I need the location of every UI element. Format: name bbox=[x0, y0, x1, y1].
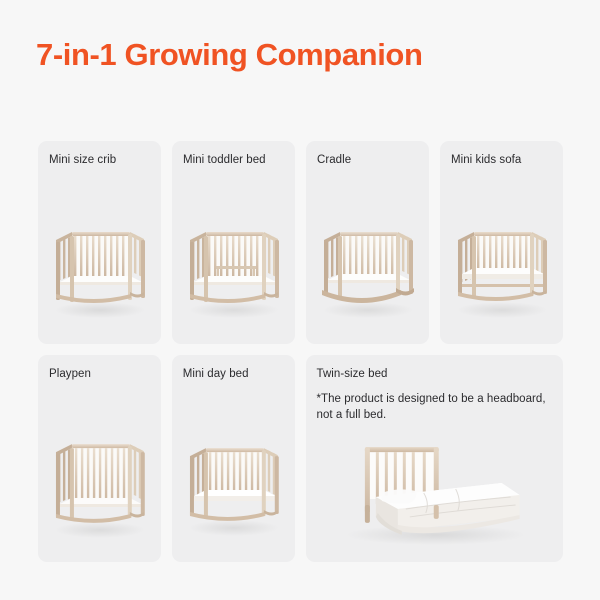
twin-bed-illustration-icon bbox=[306, 413, 563, 558]
day-bed-illustration-icon bbox=[172, 412, 295, 562]
card-image-alt: Cradle with curved rocking base bbox=[306, 141, 307, 142]
cradle-illustration-icon bbox=[306, 194, 429, 344]
card-mini-kids-sofa[interactable]: Mini kids sofa Mini kids sofa converted … bbox=[440, 141, 563, 344]
product-feature-panel: 7-in-1 Growing Companion Mini size crib … bbox=[0, 0, 600, 600]
kids-sofa-illustration-icon bbox=[440, 194, 563, 344]
grid-row-1: Mini size crib Mini size crib with full-… bbox=[38, 141, 563, 344]
playpen-illustration-icon bbox=[38, 412, 161, 562]
card-label: Mini size crib bbox=[49, 153, 116, 168]
crib-illustration-icon bbox=[38, 194, 161, 344]
configuration-grid: Mini size crib Mini size crib with full-… bbox=[38, 141, 563, 562]
card-image-alt: Twin-size bed using the slatted panel as… bbox=[306, 355, 307, 356]
card-label: Mini toddler bed bbox=[183, 153, 266, 168]
card-playpen[interactable]: Playpen Playpen with four enclosed slatt… bbox=[38, 355, 161, 562]
card-mini-size-crib[interactable]: Mini size crib Mini size crib with full-… bbox=[38, 141, 161, 344]
card-image-alt: Playpen with four enclosed slatted sides bbox=[38, 355, 39, 356]
card-mini-day-bed[interactable]: Mini day bed Mini day bed with open fron… bbox=[172, 355, 295, 562]
card-twin-size-bed[interactable]: Twin-size bed *The product is designed t… bbox=[306, 355, 563, 562]
card-cradle[interactable]: Cradle Cradle with curved rocking base bbox=[306, 141, 429, 344]
card-mini-toddler-bed[interactable]: Mini toddler bed Mini toddler bed with o… bbox=[172, 141, 295, 344]
card-image-alt: Mini kids sofa converted from the crib f… bbox=[440, 141, 441, 142]
card-image-alt: Mini size crib with full-height slatted … bbox=[38, 141, 39, 142]
card-image-alt: Mini toddler bed with one lowered side r… bbox=[172, 141, 173, 142]
page-title: 7-in-1 Growing Companion bbox=[36, 34, 423, 76]
card-label: Playpen bbox=[49, 367, 91, 382]
card-image-alt: Mini day bed with open front bbox=[172, 355, 173, 356]
card-label: Mini kids sofa bbox=[451, 153, 521, 168]
card-label: Mini day bed bbox=[183, 367, 249, 382]
toddler-bed-illustration-icon bbox=[172, 194, 295, 344]
card-label: Cradle bbox=[317, 153, 351, 168]
card-label: Twin-size bed bbox=[317, 367, 388, 382]
grid-row-2: Playpen Playpen with four enclosed slatt… bbox=[38, 355, 563, 562]
